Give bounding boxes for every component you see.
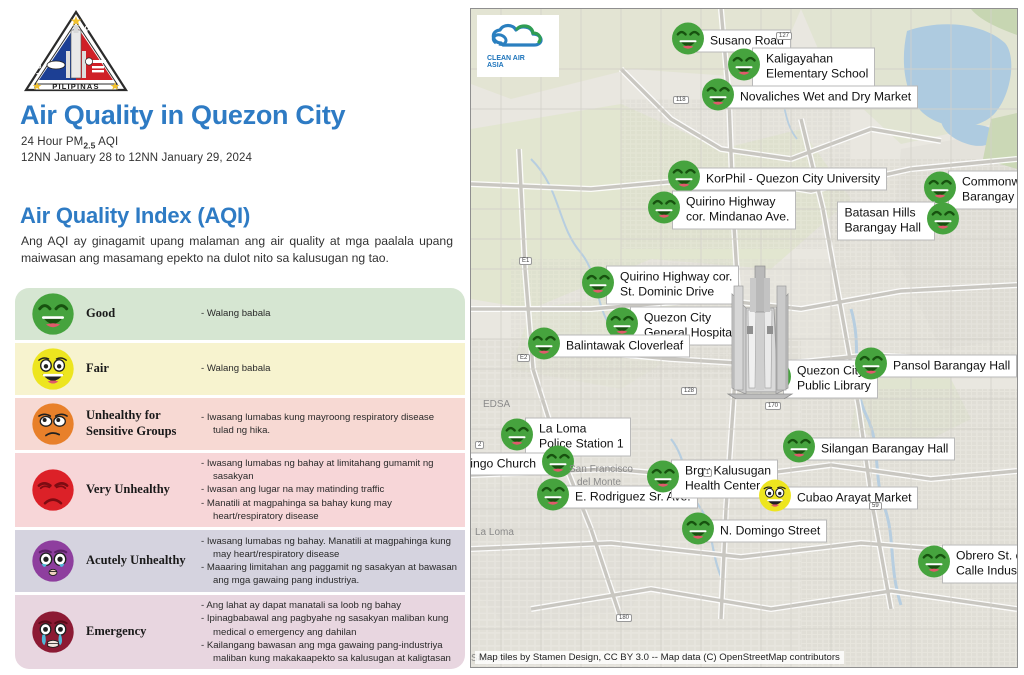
map-marker-label: Quirino Highwaycor. Mindanao Ave. (672, 191, 796, 229)
legend-advice-text: - Iwasang lumabas ng bahay at limitahang… (201, 457, 465, 523)
road-shield: 118 (673, 96, 689, 104)
map-marker-label: Sto. Domingo Church (470, 452, 550, 476)
clean-air-asia-logo: CLEAN AIR ASIA (477, 15, 559, 77)
legend-row-acutely-unhealthy: Acutely Unhealthy- Iwasang lumabas ng ba… (15, 530, 465, 592)
road-shield: 1 (703, 469, 712, 477)
map-place-name: del Monte (577, 477, 621, 488)
legend-advice-line: - Ang lahat ay dapat manatali sa loob ng… (201, 599, 457, 612)
map-marker-novaliches-wet-and-dry-market[interactable]: Novaliches Wet and Dry Market (701, 78, 918, 117)
quezon-memorial-shrine-graphic (714, 264, 806, 404)
logo-line-2: ASIA (487, 62, 504, 69)
aqi-face-icon-smiling-closed-eyes (671, 22, 705, 61)
aqi-face-icon-smiling-closed-eyes (854, 347, 888, 386)
road-shield: 2 (475, 441, 484, 449)
legend-advice-line: - Manatili at magpahinga sa bahay kung m… (201, 497, 457, 523)
clean-air-asia-wordmark: CLEAN AIR ASIA (487, 55, 549, 70)
aqi-face-icon-teary-shocked (25, 539, 81, 583)
aqi-section-heading: Air Quality Index (AQI) (20, 203, 250, 229)
map-marker-label: KorPhil - Quezon City University (692, 167, 887, 191)
map-marker-n-domingo-street[interactable]: N. Domingo Street (681, 512, 827, 551)
map-marker-label-line: Obrero St. cor (956, 549, 1018, 564)
legend-category-label: Emergency (86, 624, 201, 640)
aqi-legend-table: Good- Walang babalaFair- Walang babalaUn… (15, 288, 465, 672)
road-shield: E1 (519, 257, 532, 265)
metric-suffix: AQI (95, 136, 118, 148)
map-marker-label-line: Susano Road (710, 33, 784, 48)
aqi-face-icon-smiling-closed-eyes (25, 292, 81, 336)
page-title: Air Quality in Quezon City (20, 100, 345, 131)
legend-advice-text: - Ang lahat ay dapat manatali sa loob ng… (201, 599, 465, 665)
legend-category-label: Fair (86, 361, 201, 377)
map-marker-label-line: Commonwealth (962, 175, 1018, 190)
legend-advice-text: - Walang babala (201, 362, 465, 375)
map-marker-label-line: Pansol Barangay Hall (893, 358, 1010, 373)
aqi-face-icon-sad (25, 468, 81, 512)
map-marker-label: N. Domingo Street (706, 519, 827, 543)
metric-subtitle: 24 Hour PM2.5 AQI (21, 136, 118, 150)
map-marker-label: Silangan Barangay Hall (807, 437, 955, 461)
date-range-text: 12NN January 28 to 12NN January 29, 2024 (21, 152, 252, 164)
aqi-face-icon-worried (25, 402, 81, 446)
legend-category-label: Acutely Unhealthy (86, 553, 201, 569)
map-marker-label-line: Novaliches Wet and Dry Market (740, 89, 911, 104)
metric-subscript: 2.5 (83, 140, 95, 150)
logo-line-1: CLEAN AIR (487, 55, 525, 62)
aqi-face-icon-smiling-closed-eyes (646, 460, 680, 499)
quezon-city-seal-icon: PILIPINAS LUNGSOD QUEZON (22, 8, 130, 96)
map-place-name: San Francisco (569, 464, 633, 475)
map-marker-label-line: Batasan Hills (844, 206, 921, 221)
legend-category-label: Unhealthy for Sensitive Groups (86, 408, 201, 439)
road-shield: 128 (681, 387, 697, 395)
legend-row-unhealthy-for-sensitive-groups: Unhealthy for Sensitive Groups- Iwasang … (15, 398, 465, 450)
map-marker-label: Batasan HillsBarangay Hall (837, 202, 935, 240)
map-marker-label-line: Sto. Domingo Church (470, 456, 536, 471)
map-marker-label-line: Barangay Hall (962, 190, 1018, 205)
legend-advice-text: - Iwasang lumabas ng bahay. Manatili at … (201, 535, 465, 588)
map-marker-label: Cubao Arayat Market (783, 486, 918, 510)
aqi-face-icon-smiling-closed-eyes (527, 327, 561, 366)
legend-advice-line: - Maaaring limitahan ang paggamit ng sas… (201, 561, 457, 587)
map-marker-label-line: KorPhil - Quezon City University (706, 171, 880, 186)
legend-row-emergency: Emergency- Ang lahat ay dapat manatali s… (15, 595, 465, 669)
aqi-face-icon-smiling-closed-eyes (581, 266, 615, 305)
map-marker-pansol-barangay-hall[interactable]: Pansol Barangay Hall (854, 347, 1017, 386)
map-marker-balintawak-cloverleaf[interactable]: Balintawak Cloverleaf (527, 327, 690, 366)
legend-row-good: Good- Walang babala (15, 288, 465, 340)
legend-row-fair: Fair- Walang babala (15, 343, 465, 395)
map-place-name: EDSA (483, 399, 510, 410)
map-marker-label: Balintawak Cloverleaf (552, 334, 690, 358)
road-shield: 59 (869, 502, 882, 510)
legend-advice-line: - Walang babala (201, 362, 457, 375)
legend-category-label: Good (86, 306, 201, 322)
aqi-face-icon-smiling-closed-eyes (926, 202, 960, 241)
map-marker-label-line: Calle Industria (956, 564, 1018, 579)
legend-advice-line: - Walang babala (201, 307, 457, 320)
legend-row-very-unhealthy: Very Unhealthy- Iwasang lumabas ng bahay… (15, 453, 465, 527)
map-marker-label: Pansol Barangay Hall (879, 354, 1017, 378)
legend-advice-line: - Iwasang lumabas ng bahay at limitahang… (201, 457, 457, 483)
map-marker-label-line: Cubao Arayat Market (797, 490, 911, 505)
legend-advice-line: - Ipinagbabawal ang pagbyahe ng sasakyan… (201, 612, 457, 638)
legend-advice-line: - Kailangang bawasan ang mga gawaing pan… (201, 639, 457, 665)
legend-advice-line: - Iwasan ang lugar na may matinding traf… (201, 483, 457, 496)
aqi-face-icon-smiling-closed-eyes (917, 545, 951, 584)
legend-advice-line: - Iwasang lumabas ng bahay. Manatili at … (201, 535, 457, 561)
map-marker-quirino-highway-cor-mindanao-ave-[interactable]: Quirino Highwaycor. Mindanao Ave. (647, 191, 796, 230)
map-marker-label-line: Brgy Kalusugan (685, 464, 771, 479)
map-marker-label-line: Silangan Barangay Hall (821, 441, 948, 456)
map-marker-label-line: Balintawak Cloverleaf (566, 338, 683, 353)
map-place-name: La Loma (475, 527, 514, 538)
map-marker-label-line: cor. Mindanao Ave. (686, 210, 789, 225)
road-shield: 127 (776, 32, 792, 40)
map-attribution: Map tiles by Stamen Design, CC BY 3.0 --… (475, 651, 844, 664)
map-marker-label-line: Barangay Hall (844, 221, 921, 236)
aqi-face-icon-smiling-closed-eyes (647, 191, 681, 230)
aqi-section-description: Ang AQI ay ginagamit upang malaman ang a… (21, 233, 453, 268)
map-marker-label-line: Quirino Highway (686, 195, 789, 210)
quezon-city-aqi-map[interactable]: CLEAN AIR ASIA 127118E1E21281701259180 E… (470, 8, 1018, 668)
map-marker-obrero-st-cor-calle-industria[interactable]: Obrero St. corCalle Industria (917, 545, 1018, 584)
map-marker-label: Obrero St. corCalle Industria (942, 545, 1018, 583)
legend-category-label: Very Unhealthy (86, 482, 201, 498)
map-marker-label-line: La Loma (539, 422, 624, 437)
road-shield: E2 (517, 354, 530, 362)
left-info-panel: PILIPINAS LUNGSOD QUEZON Air Quality in … (0, 0, 470, 675)
svg-text:PILIPINAS: PILIPINAS (52, 82, 99, 91)
aqi-face-icon-crying (25, 610, 81, 654)
aqi-face-icon-smiling-closed-eyes (681, 512, 715, 551)
map-marker-label-line: Kaligayahan (766, 52, 868, 67)
legend-advice-text: - Iwasang lumabas kung mayroong respirat… (201, 411, 465, 437)
aqi-face-icon-smiling-closed-eyes (782, 430, 816, 469)
map-marker-silangan-barangay-hall[interactable]: Silangan Barangay Hall (782, 430, 955, 469)
aqi-face-icon-grinning-open-eyes (25, 347, 81, 391)
road-shield: 180 (616, 614, 632, 622)
aqi-face-icon-smiling-closed-eyes (701, 78, 735, 117)
map-marker-label-line: N. Domingo Street (720, 523, 820, 538)
map-marker-label: Novaliches Wet and Dry Market (726, 85, 918, 109)
legend-advice-text: - Walang babala (201, 307, 465, 320)
map-marker-batasan-hills-barangay-hall[interactable]: Batasan HillsBarangay Hall (837, 202, 960, 241)
metric-prefix: 24 Hour PM (21, 136, 83, 148)
air-quality-infographic: PILIPINAS LUNGSOD QUEZON Air Quality in … (0, 0, 1024, 675)
legend-advice-line: - Iwasang lumabas kung mayroong respirat… (201, 411, 457, 437)
aqi-face-icon-smiling-closed-eyes (536, 478, 570, 517)
